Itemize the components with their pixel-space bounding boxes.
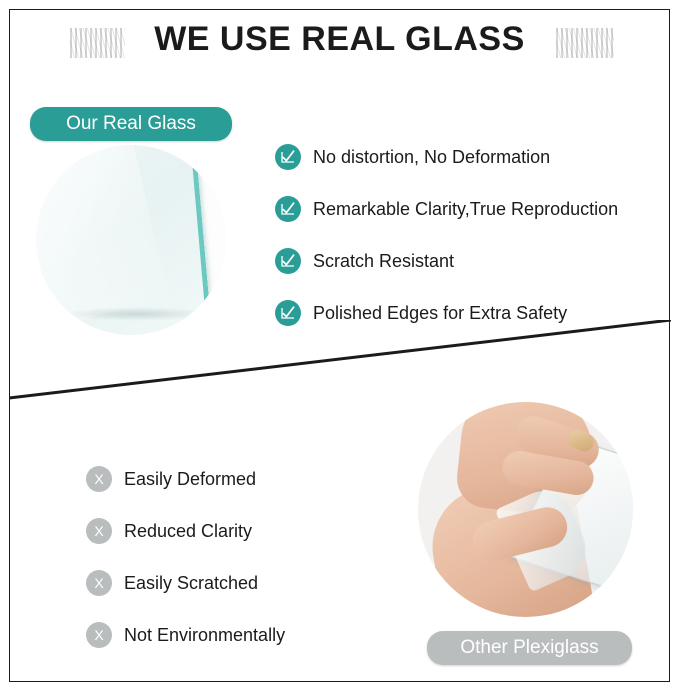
x-icon: X (86, 466, 112, 492)
x-icon: X (86, 518, 112, 544)
bad-feature-list: X Easily Deformed X Reduced Clarity X Ea… (86, 453, 285, 661)
plexiglass-photo (418, 402, 633, 617)
list-item: X Reduced Clarity (86, 505, 285, 557)
bad-side-tag-label: Other Plexiglass (460, 637, 598, 659)
bad-side-tag: Other Plexiglass (427, 631, 632, 665)
list-item-label: Reduced Clarity (124, 521, 252, 542)
list-item: X Not Environmentally (86, 609, 285, 661)
x-glyph: X (94, 472, 103, 486)
list-item-label: Easily Scratched (124, 573, 258, 594)
list-item: X Easily Scratched (86, 557, 285, 609)
real-glass-photo (36, 145, 226, 335)
list-item-label: Not Environmentally (124, 625, 285, 646)
x-glyph: X (94, 628, 103, 642)
page-title: WE USE REAL GLASS (0, 20, 679, 59)
x-icon: X (86, 622, 112, 648)
good-feature-list: No distortion, No Deformation Remarkable… (275, 131, 618, 339)
list-item-label: Easily Deformed (124, 469, 256, 490)
list-item: Polished Edges for Extra Safety (275, 287, 618, 339)
x-glyph: X (94, 576, 103, 590)
list-item: Scratch Resistant (275, 235, 618, 287)
list-item: No distortion, No Deformation (275, 131, 618, 183)
list-item-label: No distortion, No Deformation (313, 147, 550, 168)
x-icon: X (86, 570, 112, 596)
list-item-label: Remarkable Clarity,True Reproduction (313, 199, 618, 220)
comparison-infographic: WE USE REAL GLASS Our Real Glass No dist… (0, 0, 679, 691)
x-glyph: X (94, 524, 103, 538)
glass-shine (36, 145, 169, 326)
good-side-tag-label: Our Real Glass (66, 113, 196, 135)
check-icon (275, 300, 301, 326)
list-item: Remarkable Clarity,True Reproduction (275, 183, 618, 235)
check-icon (275, 144, 301, 170)
list-item-label: Polished Edges for Extra Safety (313, 303, 567, 324)
list-item-label: Scratch Resistant (313, 251, 454, 272)
good-side-tag: Our Real Glass (30, 107, 232, 141)
check-icon (275, 196, 301, 222)
glass-shadow (62, 307, 212, 321)
check-icon (275, 248, 301, 274)
list-item: X Easily Deformed (86, 453, 285, 505)
